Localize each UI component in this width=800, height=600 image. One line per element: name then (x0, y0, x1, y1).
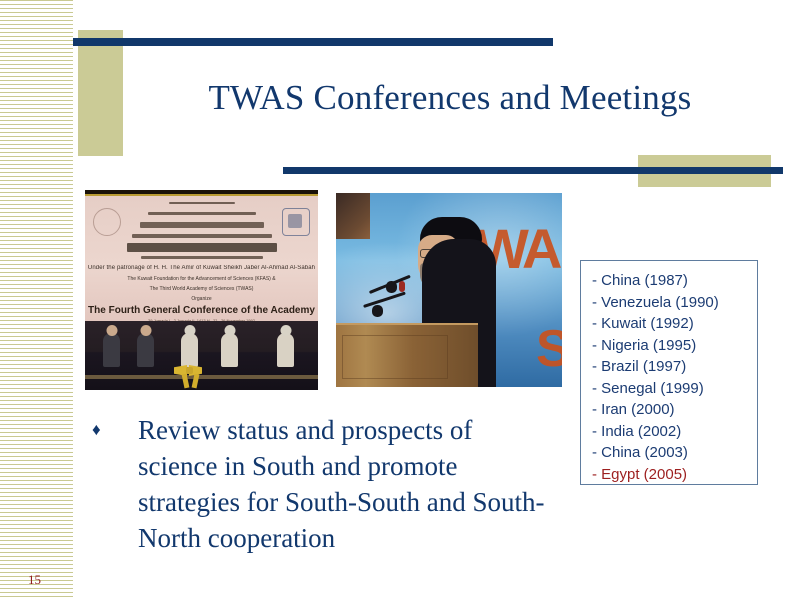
seated-delegate (103, 333, 120, 367)
navy-rule-middle (283, 167, 783, 174)
page-title: TWAS Conferences and Meetings (140, 78, 760, 118)
list-item: - Kuwait (1992) (592, 313, 757, 335)
presentation-slide: TWAS Conferences and Meetings Under the … (0, 0, 800, 600)
wooden-podium (334, 323, 478, 387)
banner-headline: The Fourth General Conference of the Aca… (85, 305, 318, 316)
list-item: - Iran (2000) (592, 399, 757, 421)
banner-caption-line: The Kuwait Foundation for the Advancemen… (85, 276, 318, 282)
banner-table-edge (85, 375, 318, 379)
slide-number: 15 (28, 572, 41, 588)
list-item: - India (2002) (592, 421, 757, 443)
gold-ribbon-knot (186, 367, 193, 374)
list-item: - Nigeria (1995) (592, 335, 757, 357)
photo-white-frame: T W A S (333, 190, 565, 390)
arabic-script-line (140, 222, 264, 228)
navy-rule-top (73, 38, 553, 46)
microphone-head (372, 305, 383, 317)
backdrop-letter-a: A (522, 221, 562, 277)
seated-delegate (181, 333, 198, 367)
bullet-point: ♦ Review status and prospects of science… (92, 412, 547, 556)
backdrop-left-panel (336, 193, 370, 239)
list-item: - Brazil (1997) (592, 356, 757, 378)
twas-emblem-icon (282, 208, 310, 236)
list-item-highlighted: - Egypt (2005) (592, 464, 757, 486)
backdrop-letter-s: S (536, 323, 565, 375)
microphone-windscreen (399, 281, 405, 292)
list-item: - China (2003) (592, 442, 757, 464)
banner-caption-line: The Third World Academy of Sciences (TWA… (85, 286, 318, 292)
photo-speaker-at-podium: T W A S (333, 190, 565, 390)
bullet-text: Review status and prospects of science i… (138, 412, 547, 556)
list-item: - Senegal (1999) (592, 378, 757, 400)
conference-list-box: - China (1987) - Venezuela (1990) - Kuwa… (580, 260, 758, 485)
diamond-bullet-icon: ♦ (92, 412, 138, 448)
arabic-script-line (169, 202, 235, 204)
banner-caption-line: Organize (85, 296, 318, 302)
photo-conference-banner: Under the patronage of H. H. The Amir of… (85, 190, 318, 390)
arabic-script-line (127, 243, 277, 252)
khaki-accent-block-top (78, 30, 123, 156)
banner-caption-line: Under the patronage of H. H. The Amir of… (85, 265, 318, 271)
banner-board: Under the patronage of H. H. The Amir of… (85, 196, 318, 321)
microphone-head (386, 281, 397, 293)
arabic-script-line (132, 234, 272, 238)
kfas-emblem-icon (93, 208, 121, 236)
arabic-script-line (141, 256, 263, 259)
banner-stage (85, 321, 318, 390)
seated-delegate (221, 333, 238, 367)
list-item: - China (1987) (592, 270, 757, 292)
list-item: - Venezuela (1990) (592, 292, 757, 314)
arabic-script-line (148, 212, 256, 215)
seated-delegate (277, 333, 294, 367)
left-stripe-decoration (0, 0, 73, 600)
seated-delegate (137, 333, 154, 367)
